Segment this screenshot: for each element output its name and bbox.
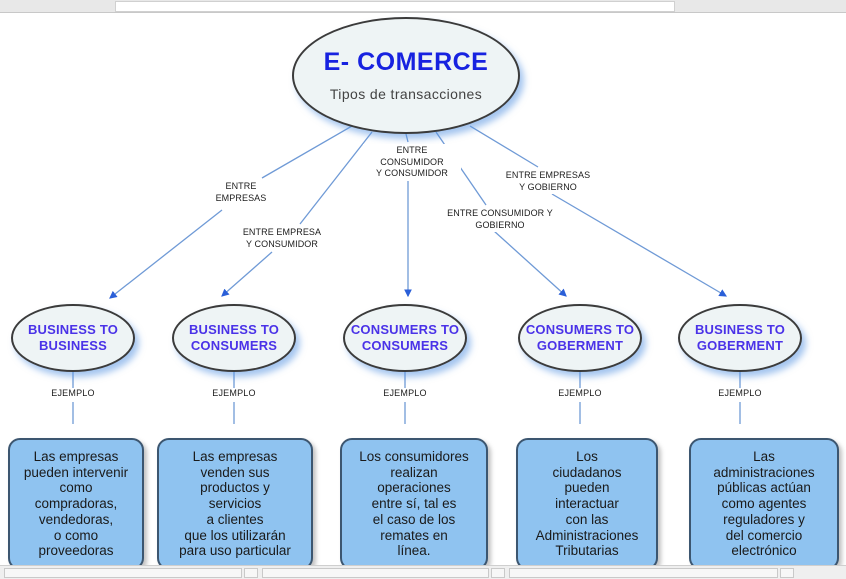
category-node-consumers-to-goberment[interactable]: CONSUMERS TO GOBERMENT — [518, 304, 642, 372]
toolbar-text-field[interactable] — [115, 1, 675, 12]
application-window: E- COMERCE Tipos de transacciones ENTRE … — [0, 0, 846, 579]
edge-label-entre-empresas-y-gobierno: ENTRE EMPRESAS Y GOBIERNO — [496, 169, 600, 194]
status-bar — [0, 565, 846, 579]
category-node-business-to-consumers[interactable]: BUSINESS TO CONSUMERS — [172, 304, 296, 372]
category-node-label: BUSINESS TO BUSINESS — [13, 322, 133, 354]
example-box-consumers-to-goberment[interactable]: Los ciudadanos pueden interactuar con la… — [516, 438, 658, 570]
category-node-consumers-to-consumers[interactable]: CONSUMERS TO CONSUMERS — [343, 304, 467, 372]
ejemplo-label: EJEMPLO — [703, 388, 777, 398]
category-node-business-to-business[interactable]: BUSINESS TO BUSINESS — [11, 304, 135, 372]
status-bar-cell[interactable] — [4, 568, 242, 578]
ejemplo-label: EJEMPLO — [197, 388, 271, 398]
edge-label-entre-empresas: ENTRE EMPRESAS — [203, 180, 279, 205]
edge-label-entre-empresa-y-consumidor: ENTRE EMPRESA Y CONSUMIDOR — [227, 226, 337, 251]
root-node-subtitle: Tipos de transacciones — [330, 86, 482, 102]
category-node-label: CONSUMERS TO CONSUMERS — [345, 322, 465, 354]
root-node-e-comerce[interactable]: E- COMERCE Tipos de transacciones — [292, 17, 520, 134]
category-node-label: CONSUMERS TO GOBERMENT — [520, 322, 640, 354]
status-bar-cell[interactable] — [244, 568, 258, 578]
diagram-canvas: E- COMERCE Tipos de transacciones ENTRE … — [0, 14, 846, 565]
status-bar-cell[interactable] — [491, 568, 505, 578]
root-node-title: E- COMERCE — [324, 49, 489, 77]
ejemplo-label: EJEMPLO — [36, 388, 110, 398]
status-bar-cell[interactable] — [262, 568, 489, 578]
edge-label-entre-consumidor-y-consumidor: ENTRE CONSUMIDOR Y CONSUMIDOR — [363, 144, 461, 181]
ejemplo-label: EJEMPLO — [543, 388, 617, 398]
category-node-business-to-goberment[interactable]: BUSINESS TO GOBERMENT — [678, 304, 802, 372]
top-toolbar — [0, 0, 846, 13]
category-node-label: BUSINESS TO CONSUMERS — [174, 322, 294, 354]
status-bar-cell[interactable] — [780, 568, 794, 578]
example-box-consumers-to-consumers[interactable]: Los consumidores realizan operaciones en… — [340, 438, 488, 570]
example-box-business-to-consumers[interactable]: Las empresas venden sus productos y serv… — [157, 438, 313, 570]
example-box-business-to-goberment[interactable]: Las administraciones públicas actúan com… — [689, 438, 839, 570]
example-box-business-to-business[interactable]: Las empresas pueden intervenir como comp… — [8, 438, 144, 570]
edge-label-entre-consumidor-y-gobierno: ENTRE CONSUMIDOR Y GOBIERNO — [434, 207, 566, 232]
ejemplo-label: EJEMPLO — [368, 388, 442, 398]
category-node-label: BUSINESS TO GOBERMENT — [680, 322, 800, 354]
status-bar-cell[interactable] — [509, 568, 778, 578]
